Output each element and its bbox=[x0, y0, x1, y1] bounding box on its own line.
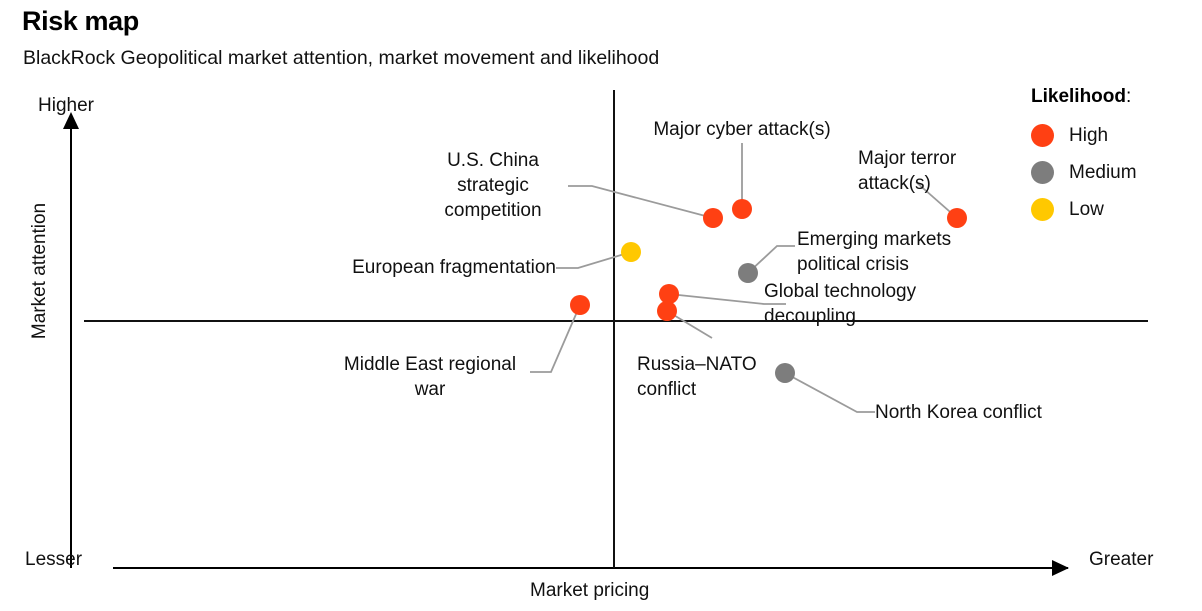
legend-item-medium[interactable]: Medium bbox=[1031, 154, 1137, 191]
x-axis-line bbox=[113, 567, 1068, 569]
x-axis-low-label: Lesser bbox=[25, 549, 82, 571]
y-axis-title: Market attention bbox=[29, 191, 51, 351]
legend-item-low[interactable]: Low bbox=[1031, 191, 1137, 228]
x-axis-high-label: Greater bbox=[1089, 549, 1153, 571]
point-label-emerging-markets: Emerging markets political crisis bbox=[797, 227, 1017, 277]
legend-title-text: Likelihood bbox=[1031, 86, 1126, 107]
legend-title-colon: : bbox=[1126, 86, 1131, 107]
legend-item-high[interactable]: High bbox=[1031, 117, 1137, 154]
point-label-middle-east: Middle East regional war bbox=[330, 352, 530, 402]
page-title: Risk map bbox=[22, 6, 139, 37]
point-label-north-korea: North Korea conflict bbox=[875, 400, 1155, 425]
point-label-major-cyber: Major cyber attack(s) bbox=[638, 117, 846, 142]
data-point-us-china[interactable] bbox=[703, 208, 723, 228]
risk-map-chart: Risk map BlackRock Geopolitical market a… bbox=[0, 0, 1202, 611]
y-axis-line bbox=[70, 128, 72, 568]
legend-swatch-high-icon bbox=[1031, 124, 1054, 147]
leader-us-china bbox=[568, 186, 713, 218]
data-point-major-terror[interactable] bbox=[947, 208, 967, 228]
quadrant-vertical-divider bbox=[613, 90, 615, 568]
point-label-russia-nato: Russia–NATO conflict bbox=[637, 352, 827, 402]
data-point-middle-east[interactable] bbox=[570, 295, 590, 315]
data-point-major-cyber[interactable] bbox=[732, 199, 752, 219]
point-label-us-china: U.S. China strategic competition bbox=[418, 148, 568, 223]
data-point-lower-cluster[interactable] bbox=[657, 301, 677, 321]
y-axis-high-label: Higher bbox=[38, 95, 94, 117]
data-point-european-fragmentation[interactable] bbox=[621, 242, 641, 262]
leader-middle-east bbox=[530, 305, 580, 372]
point-label-major-terror: Major terror attack(s) bbox=[858, 146, 1048, 196]
legend-title: Likelihood: bbox=[1031, 86, 1137, 108]
legend-label-high: High bbox=[1069, 125, 1108, 147]
legend-swatch-low-icon bbox=[1031, 198, 1054, 221]
point-label-european-fragmentation: European fragmentation bbox=[276, 255, 556, 280]
leader-european-fragmentation bbox=[556, 252, 631, 268]
leader-lines bbox=[0, 0, 1202, 611]
legend-swatch-medium-icon bbox=[1031, 161, 1054, 184]
legend-label-medium: Medium bbox=[1069, 162, 1137, 184]
x-axis-arrow-icon bbox=[1052, 560, 1069, 576]
page-subtitle: BlackRock Geopolitical market attention,… bbox=[23, 47, 659, 70]
legend-label-low: Low bbox=[1069, 199, 1104, 221]
legend: Likelihood: High Medium Low bbox=[1031, 86, 1137, 228]
point-label-global-tech: Global technology decoupling bbox=[764, 279, 994, 329]
x-axis-title: Market pricing bbox=[530, 580, 649, 602]
data-point-emerging-markets[interactable] bbox=[738, 263, 758, 283]
